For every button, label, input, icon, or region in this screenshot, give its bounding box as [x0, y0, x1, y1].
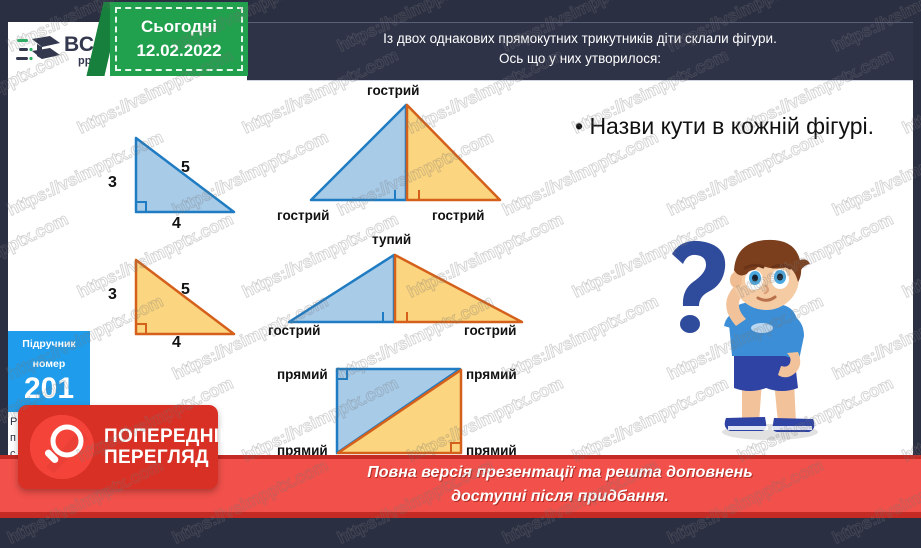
graduation-cap-icon: [16, 34, 62, 68]
figure-obtuse-triangle: [280, 250, 530, 330]
preview-badge-line2: ПЕРЕГЛЯД: [104, 447, 233, 468]
date-tag: Сьогодні 12.02.2022: [110, 2, 248, 76]
magnifier-icon: [30, 415, 94, 479]
slide-stage: 3 5 4 3 5 4 гострий гострий гострий тупи…: [0, 0, 921, 518]
watermark-text: https://vsimpptx.com: [0, 0, 2, 56]
preview-badge-text: ПОПЕРЕДНІЙ ПЕРЕГЛЯД: [104, 426, 233, 468]
preview-badge-line1: ПОПЕРЕДНІЙ: [104, 426, 233, 447]
textbook-label-line1: Підручник: [8, 338, 90, 351]
tall-triangle-label-bottom-right: гострий: [432, 208, 484, 223]
square-label-top-left: прямий: [277, 367, 328, 382]
banner-line-1: Повна версія презентації та решта доповн…: [230, 461, 890, 485]
watermark-text: https://vsimpptx.com: [0, 292, 2, 385]
blue-triangle-side-horizontal: 4: [172, 215, 181, 233]
tall-triangle-label-top: гострий: [367, 83, 419, 98]
blue-triangle-side-vertical: 3: [108, 174, 117, 192]
figure-square: [330, 363, 475, 463]
yellow-triangle-side-hypotenuse: 5: [181, 281, 190, 299]
header-text: Із двох однакових прямокутних трикутникі…: [247, 29, 913, 69]
yellow-triangle-side-vertical: 3: [108, 286, 117, 304]
figure-right-triangle-blue: [120, 130, 250, 225]
watermark-text: https://vsimpptx.com: [0, 128, 2, 221]
banner-text: Повна версія презентації та решта доповн…: [230, 461, 890, 509]
obtuse-triangle-label-bottom-right: гострий: [464, 323, 516, 338]
header-line-1: Із двох однакових прямокутних трикутникі…: [247, 29, 913, 49]
figure-right-triangle-yellow: [120, 252, 250, 347]
square-label-top-right: прямий: [466, 367, 517, 382]
confused-boy-illustration: [650, 236, 870, 451]
header-line-2: Ось що у них утворилося:: [247, 49, 913, 69]
textbook-number-box: Підручник номер 201: [8, 331, 90, 412]
obtuse-triangle-label-top: тупий: [372, 232, 411, 247]
preview-badge[interactable]: ПОПЕРЕДНІЙ ПЕРЕГЛЯД: [18, 405, 218, 489]
figure-tall-triangle: [300, 100, 510, 208]
banner-bottom-bar: [0, 512, 921, 518]
tall-triangle-label-bottom-left: гострий: [277, 208, 329, 223]
blue-triangle-side-hypotenuse: 5: [181, 159, 190, 177]
date-tag-value: 12.02.2022: [136, 39, 221, 63]
yellow-triangle-side-horizontal: 4: [172, 334, 181, 352]
question-mark-icon: [672, 241, 725, 333]
textbook-number: 201: [8, 373, 90, 405]
banner-line-2: доступні після придбання.: [230, 485, 890, 509]
date-tag-label: Сьогодні: [141, 15, 217, 39]
obtuse-triangle-label-bottom-left: гострий: [268, 323, 320, 338]
textbook-label-line2: номер: [8, 358, 90, 371]
task-instruction: • Назви кути в кожній фігурі.: [575, 108, 875, 144]
header-band: Із двох однакових прямокутних трикутникі…: [247, 22, 913, 81]
